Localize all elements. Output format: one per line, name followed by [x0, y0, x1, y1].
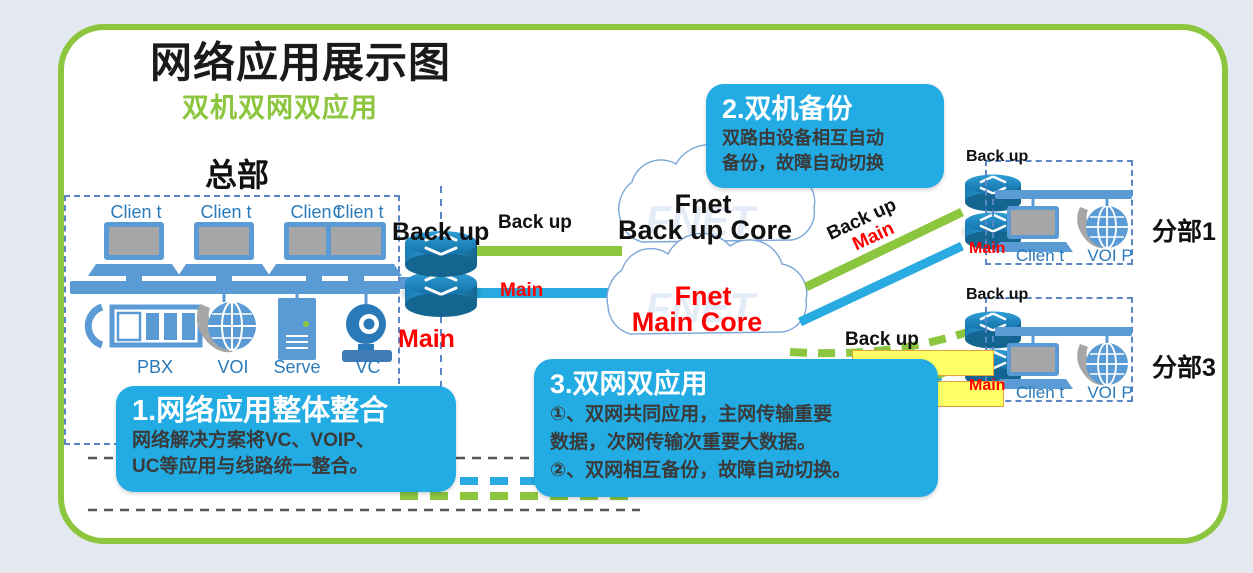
callout-2: 2.双机备份 双路由设备相互自动 备份，故障自动切换 — [706, 84, 944, 188]
branch1-voip-label: VOI P — [1083, 246, 1137, 265]
branch1-router-main-label: Main — [969, 240, 1005, 258]
callout-2-body-line1: 双路由设备相互自动 — [722, 126, 928, 151]
hq-router-main-label: Main — [398, 325, 455, 354]
branch3-router-backup-label: Back up — [966, 286, 1028, 304]
hq-title: 总部 — [205, 150, 269, 196]
callout-1: 1.网络应用整体整合 网络解决方案将VC、VOIP、 UC等应用与线路统一整合。 — [116, 386, 456, 492]
hq-client-1-label: Clien t — [105, 203, 167, 222]
callout-3: 3.双网双应用 ①、双网共同应用，主网传输重要 数据，次网传输次重要大数据。 ②… — [534, 359, 938, 497]
cloud-backup-label-line2: Back up Core — [600, 216, 810, 245]
branch1-client-label: Clien t — [1013, 246, 1067, 265]
callout-3-body-line1: ①、双网共同应用，主网传输重要 — [550, 401, 922, 429]
branch3-client-label: Clien t — [1013, 383, 1067, 402]
callout-1-title: 1.网络应用整体整合 — [132, 394, 440, 428]
hq-lan-bar — [70, 281, 400, 294]
hq-to-cloud-backup-label: Back up — [498, 212, 572, 234]
callout-1-body-line1: 网络解决方案将VC、VOIP、 — [132, 428, 440, 454]
hq-vc-label: VC — [337, 358, 399, 377]
hq-pbx-label: PBX — [124, 358, 186, 377]
page-title: 网络应用展示图 — [150, 29, 451, 90]
hq-to-cloud-main-label: Main — [500, 280, 543, 302]
branch3-title: 分部3 — [1152, 348, 1216, 384]
callout-3-body-line2: 数据，次网传输次重要大数据。 — [550, 429, 922, 457]
hq-server-label: Serve — [266, 358, 328, 377]
hq-client-2-label: Clien t — [195, 203, 257, 222]
cloud-main-label-line2: Main Core — [592, 308, 802, 337]
branch3-router-main-label: Main — [969, 377, 1005, 395]
callout-1-body-line2: UC等应用与线路统一整合。 — [132, 454, 440, 480]
callout-3-body-line3: ②、双网相互备份，故障自动切换。 — [550, 457, 922, 485]
branch1-title: 分部1 — [1152, 212, 1216, 248]
page-subtitle: 双机双网双应用 — [182, 86, 378, 125]
hq-router-backup-label: Back up — [392, 218, 489, 247]
cloud-to-branch3-backup-label: Back up — [845, 329, 919, 351]
branch3-voip-label: VOI P — [1083, 383, 1137, 402]
callout-2-title: 2.双机备份 — [722, 92, 928, 126]
branch3-lan-bar — [995, 327, 1132, 336]
branch1-router-backup-label: Back up — [966, 148, 1028, 166]
hq-voip-label: VOI — [202, 358, 264, 377]
callout-3-title: 3.双网双应用 — [550, 367, 922, 401]
hq-client-4-label: Clien t — [327, 203, 389, 222]
callout-2-body-line2: 备份，故障自动切换 — [722, 151, 928, 176]
diagram-canvas: FNET FNET — [0, 0, 1253, 573]
branch1-lan-bar — [995, 190, 1132, 199]
